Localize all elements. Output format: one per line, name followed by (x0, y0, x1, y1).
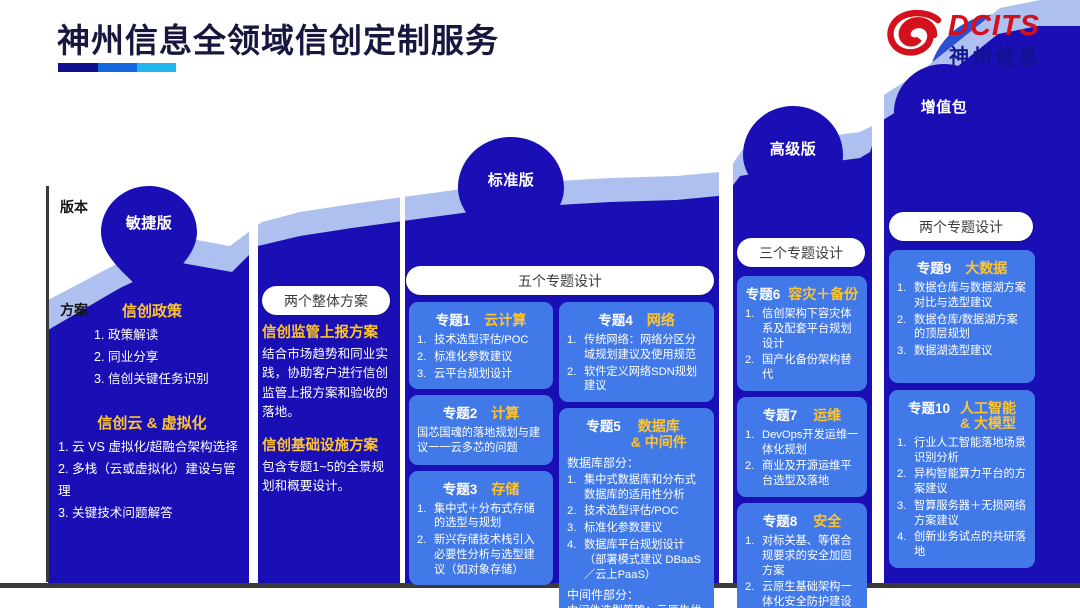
list-item: 1. 云 VS 虚拟化/超融合架构选择 (58, 436, 248, 458)
col-gap-4 (872, 80, 884, 608)
topic-no: 专题2 (443, 402, 478, 422)
column-valueadd: 两个专题设计 专题9 大数据 1.数据仓库与数据湖方案对比与选型建议 2.数据仓… (889, 212, 1035, 583)
axis-label-version: 版本 (60, 197, 88, 217)
logo-wordmark: DCITS (948, 10, 1040, 43)
topic-key: 计算 (491, 406, 519, 421)
topic-key: 安全 (813, 514, 841, 529)
topic-tail: 中间件选型策略：云原生优先＋传统信创中间件＋开源管理 (567, 604, 706, 608)
list-item: 1.集中式＋分布式存储的选型与规划 (417, 502, 545, 532)
list-item: 2.新兴存储技术栈引入必要性分析与选型建议（如对象存储） (417, 533, 545, 577)
list-item: 3.云平台规划设计 (417, 367, 545, 382)
topic-no: 专题6 (746, 283, 781, 303)
overall-heading-1: 信创监管上报方案 (262, 324, 396, 343)
standard-right-stack: 专题4 网络 1.传统网络：网络分区分域规划建议及使用规范 2.软件定义网络SD… (559, 302, 714, 608)
slide-canvas: 神州信息全领域信创定制服务 DCITS 神州信息 版本 方案 敏捷版 标准版 高… (0, 0, 1080, 608)
topic-no: 专题4 (598, 309, 633, 329)
list-item: 3. 信创关键任务识别 (94, 368, 248, 390)
list-item: 4.创新业务试点的共研落地 (897, 530, 1027, 560)
baseline-white (0, 588, 1080, 608)
topic-key: 容灾＋备份 (788, 287, 858, 302)
topic-card-10[interactable]: 专题10 人工智能 & 大模型 1.行业人工智能落地场景识别分析 2.异构智能算… (889, 390, 1035, 568)
topic-card-1[interactable]: 专题1 云计算 1.技术选型评估/POC 2.标准化参数建议 3.云平台规划设计 (409, 302, 553, 389)
list-item: 2.商业及开源运维平台选型及落地 (745, 459, 859, 489)
topic-card-4[interactable]: 专题4 网络 1.传统网络：网络分区分域规划建议及使用规范 2.软件定义网络SD… (559, 302, 714, 402)
pill-standard[interactable]: 五个专题设计 (406, 266, 714, 295)
overall-text-2: 包含专题1~5的全景规划和概要设计。 (262, 458, 396, 497)
list-item: 2.技术选型评估/POC (567, 504, 706, 519)
list-item: 3.数据湖选型建议 (897, 344, 1027, 359)
list-item: 2.云原生基础架构一体化安全防护建设方案 (745, 580, 859, 608)
agile-list-cloud: 1. 云 VS 虚拟化/超融合架构选择 2. 多栈（云或虚拟化）建设与管理 3.… (56, 436, 248, 524)
topic-card-9[interactable]: 专题9 大数据 1.数据仓库与数据湖方案对比与选型建议 2.数据仓库/数据湖方案… (889, 250, 1035, 383)
list-item: 2. 多栈（云或虚拟化）建设与管理 (58, 458, 248, 502)
pin-valueadd[interactable]: 增值包 (905, 70, 983, 174)
topic-key: 网络 (647, 313, 675, 328)
pin-label-agile: 敏捷版 (110, 212, 188, 233)
list-item: 2.软件定义网络SDN规划建议 (567, 365, 706, 395)
overall-heading-2: 信创基础设施方案 (262, 437, 396, 456)
topic-key: 云计算 (484, 313, 526, 328)
col-gap-1 (249, 190, 258, 608)
list-item: 2.国产化备份架构替代 (745, 353, 859, 383)
pill-overall[interactable]: 两个整体方案 (262, 286, 390, 315)
pill-valueadd[interactable]: 两个专题设计 (889, 212, 1033, 241)
agile-list-policy: 1. 政策解读 2. 同业分享 3. 信创关键任务识别 (56, 324, 248, 390)
col-gap-2 (400, 190, 405, 608)
pin-label-valueadd: 增值包 (905, 96, 983, 117)
overall-text-1: 结合市场趋势和同业实践，协助客户进行信创监管上报方案和验收的落地。 (262, 345, 396, 423)
list-item: 1.DevOps开发运维一体化规划 (745, 428, 859, 458)
topic-key: 运维 (813, 408, 841, 423)
title-underline-bar (58, 63, 176, 72)
column-agile: 信创政策 1. 政策解读 2. 同业分享 3. 信创关键任务识别 信创云 & 虚… (56, 300, 248, 583)
pin-label-advanced: 高级版 (754, 138, 832, 159)
pin-standard[interactable]: 标准版 (472, 143, 550, 247)
topic-card-8[interactable]: 专题8 安全 1.对标关基、等保合规要求的安全加固方案 2.云原生基础架构一体化… (737, 503, 867, 608)
topic-no: 专题7 (763, 404, 798, 424)
col-gap-3 (719, 130, 733, 608)
topic-no: 专题3 (443, 478, 478, 498)
pin-agile[interactable]: 敏捷版 (110, 186, 188, 290)
topic-subheading: 数据库部分： (567, 454, 706, 471)
pin-label-standard: 标准版 (472, 169, 550, 190)
topic-no: 专题8 (763, 510, 798, 530)
list-item: 1.传统网络：网络分区分域规划建议及使用规范 (567, 333, 706, 363)
column-standard: 五个专题设计 专题1 云计算 1.技术选型评估/POC 2.标准化参数建议 3.… (406, 266, 716, 583)
pin-advanced[interactable]: 高级版 (754, 112, 832, 216)
list-item: 1.集中式数据库和分布式数据库的适用性分析 (567, 473, 706, 503)
topic-no: 专题1 (436, 309, 471, 329)
topic-no: 专题5 (586, 415, 621, 435)
list-item: 3. 关键技术问题解答 (58, 502, 248, 524)
topic-key: 大数据 (965, 261, 1007, 276)
list-item: 1.行业人工智能落地场景识别分析 (897, 436, 1027, 466)
topic-no: 专题10 (908, 397, 950, 417)
agile-heading-policy: 信创政策 (56, 300, 248, 321)
logo-chinese: 神州信息 (949, 40, 1041, 69)
topic-key: 存储 (491, 482, 519, 497)
topic-card-3[interactable]: 专题3 存储 1.集中式＋分布式存储的选型与规划 2.新兴存储技术栈引入必要性分… (409, 471, 553, 586)
vertical-axis-line (46, 186, 49, 582)
list-item: 2.数据仓库/数据湖方案的顶层规划 (897, 313, 1027, 343)
list-item: 2.异构智能算力平台的方案建议 (897, 467, 1027, 497)
topic-subheading: 中间件部分： (567, 586, 706, 603)
list-item: 1.信创架构下容灾体系及配套平台规划设计 (745, 307, 859, 351)
list-item: 1.数据仓库与数据湖方案对比与选型建议 (897, 281, 1027, 311)
dcits-swoosh-icon (886, 8, 946, 62)
topic-no: 专题9 (917, 257, 952, 277)
topic-card-6[interactable]: 专题6 容灾＋备份 1.信创架构下容灾体系及配套平台规划设计 2.国产化备份架构… (737, 276, 867, 391)
list-item: 1.对标关基、等保合规要求的安全加固方案 (745, 534, 859, 578)
column-overall: 两个整体方案 信创监管上报方案 结合市场趋势和同业实践，协助客户进行信创监管上报… (262, 286, 396, 583)
agile-heading-cloud: 信创云 & 虚拟化 (56, 412, 248, 433)
list-item: 2.标准化参数建议 (417, 350, 545, 365)
topic-card-7[interactable]: 专题7 运维 1.DevOps开发运维一体化规划 2.商业及开源运维平台选型及落… (737, 397, 867, 497)
list-item: 1.技术选型评估/POC (417, 333, 545, 348)
topic-key: 数据库 & 中间件 (631, 419, 687, 450)
standard-left-stack: 专题1 云计算 1.技术选型评估/POC 2.标准化参数建议 3.云平台规划设计… (409, 302, 553, 585)
list-item: 2. 同业分享 (94, 346, 248, 368)
topic-card-5[interactable]: 专题5 数据库 & 中间件 数据库部分： 1.集中式数据库和分布式数据库的适用性… (559, 408, 714, 608)
page-title: 神州信息全领域信创定制服务 (57, 14, 499, 62)
column-advanced: 三个专题设计 专题6 容灾＋备份 1.信创架构下容灾体系及配套平台规划设计 2.… (737, 238, 867, 583)
pill-advanced[interactable]: 三个专题设计 (737, 238, 865, 267)
topic-card-2[interactable]: 专题2 计算 国芯国魂的落地规划与建议一一云多芯的问题 (409, 395, 553, 464)
brand-logo: DCITS 神州信息 (886, 8, 1066, 70)
list-item: 3.标准化参数建议 (567, 521, 706, 536)
list-item: 1. 政策解读 (94, 324, 248, 346)
topic-key: 人工智能 & 大模型 (960, 401, 1016, 432)
list-item: 4.数据库平台规划设计（部署模式建议 DBaaS／云上PaaS） (567, 538, 706, 582)
list-item: 3.智算服务器＋无损网络方案建议 (897, 499, 1027, 529)
topic-body: 国芯国魂的落地规划与建议一一云多芯的问题 (417, 426, 545, 456)
